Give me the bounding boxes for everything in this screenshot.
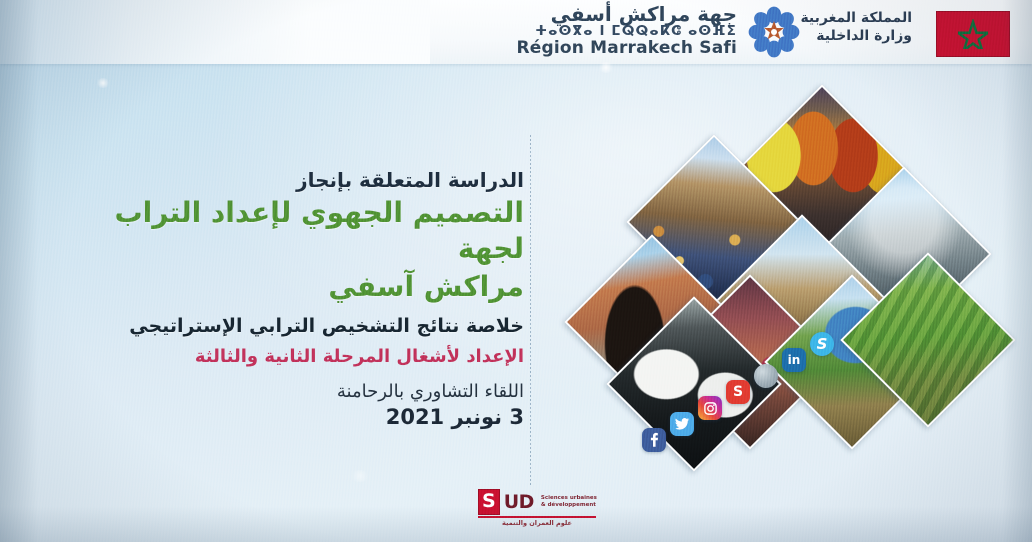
presentation-slide: جهة مراكش أسفي ⵜⴰⵙⴳⴰ ⵏ ⵎⵕⵕⴰⴽⵛ ⴰⵙⴼⵉ Régio… xyxy=(0,0,1032,542)
study-intro-line: الدراسة المتعلقة بإنجاز xyxy=(54,168,524,193)
main-title-line-2: مراكش آسفي xyxy=(54,269,524,305)
sud-tagline-line-2: & développement xyxy=(541,502,597,509)
rss-share-glyph: S xyxy=(733,385,743,399)
header-left-gradient xyxy=(0,0,430,64)
meeting-date: 3 نونبر 2021 xyxy=(54,405,524,429)
sud-tagline-line-1: Sciences urbaines xyxy=(541,495,597,502)
sud-logo: S UD Sciences urbaines & développement ع… xyxy=(478,489,606,527)
screen-glare-3 xyxy=(350,470,370,482)
sud-logo-arabic: علوم العمران والتنمية xyxy=(478,519,596,527)
region-name-arabic: جهة مراكش أسفي xyxy=(516,4,737,24)
twitter-icon[interactable] xyxy=(670,412,694,436)
sud-logo-row: S UD Sciences urbaines & développement xyxy=(478,489,606,515)
subtitle: خلاصة نتائج التشخيص الترابي الإستراتيجي xyxy=(54,314,524,339)
title-block: الدراسة المتعلقة بإنجاز التصميم الجهوي ل… xyxy=(54,168,524,429)
kingdom-line-2: وزارة الداخلية xyxy=(800,28,912,46)
sud-logo-s: S xyxy=(478,489,500,515)
region-branding: جهة مراكش أسفي ⵜⴰⵙⴳⴰ ⵏ ⵎⵕⵕⴰⴽⵛ ⴰⵙⴼⵉ Régio… xyxy=(516,4,737,57)
vertical-divider xyxy=(530,135,531,485)
sud-logo-ud: UD xyxy=(504,493,534,512)
region-name-french: Région Marrakech Safi xyxy=(516,40,737,57)
linkedin-glyph: in xyxy=(788,354,801,366)
rosette-emblem-icon xyxy=(748,6,800,58)
main-title-line-1: التصميم الجهوي لإعداد التراب لجهة xyxy=(54,195,524,267)
slide-header: جهة مراكش أسفي ⵜⴰⵙⴳⴰ ⵏ ⵎⵕⵕⴰⴽⵛ ⴰⵙⴼⵉ Régio… xyxy=(0,0,1032,64)
facebook-icon[interactable] xyxy=(642,428,666,452)
linkedin-icon[interactable]: in xyxy=(782,348,806,372)
screen-glare-1 xyxy=(96,78,110,88)
kingdom-line-1: المملكة المغربية xyxy=(800,10,912,28)
sud-tagline: Sciences urbaines & développement xyxy=(541,495,597,509)
instagram-icon[interactable] xyxy=(698,396,722,420)
rss-share-icon[interactable]: S xyxy=(726,380,750,404)
meeting-name: اللقاء التشاوري بالرحامنة xyxy=(54,380,524,404)
region-name-tifinagh: ⵜⴰⵙⴳⴰ ⵏ ⵎⵕⵕⴰⴽⵛ ⴰⵙⴼⵉ xyxy=(516,25,737,39)
phase-note: الإعداد لأشغال المرحلة الثانية والثالثة xyxy=(54,345,524,368)
kingdom-branding: المملكة المغربية وزارة الداخلية xyxy=(800,10,912,45)
morocco-flag xyxy=(936,11,1010,57)
skype-glyph: S xyxy=(817,337,828,352)
social-icon-strip: S in S xyxy=(630,340,850,460)
skype-icon[interactable]: S xyxy=(810,332,834,356)
sud-logo-rule xyxy=(478,516,596,518)
generic-circle-icon[interactable] xyxy=(754,364,778,388)
